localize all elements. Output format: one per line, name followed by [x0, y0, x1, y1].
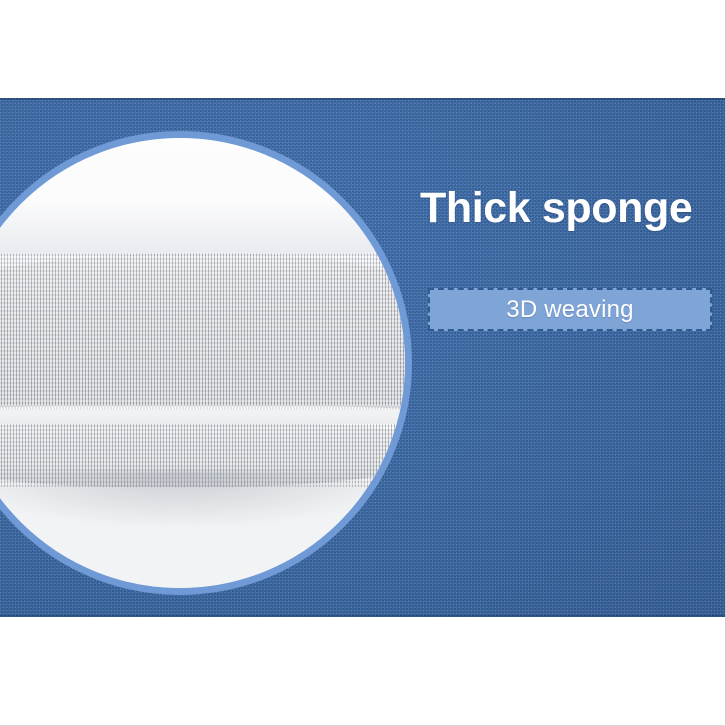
- headline-text: Thick sponge: [420, 186, 710, 231]
- mask-drop-shadow: [0, 471, 396, 525]
- feature-callout-label: 3D weaving: [506, 296, 633, 324]
- product-banner-image: Thick sponge 3D weaving: [0, 0, 726, 726]
- feature-callout-box: 3D weaving: [428, 288, 712, 331]
- product-photo-image: [0, 138, 405, 588]
